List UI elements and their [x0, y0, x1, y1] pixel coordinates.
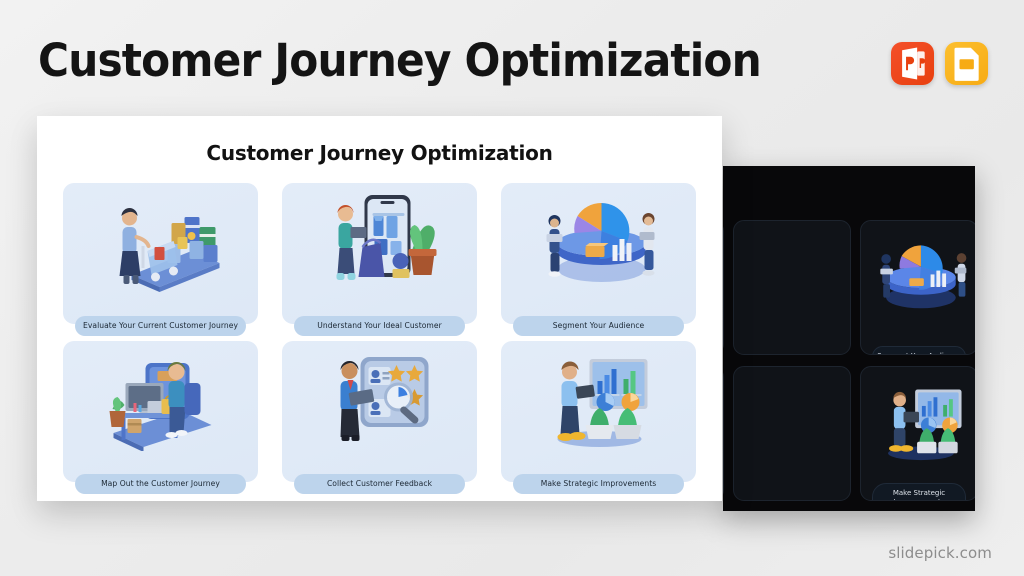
- powerpoint-icon[interactable]: [891, 42, 934, 85]
- light-card-map-journey[interactable]: Map Out the Customer Journey: [63, 341, 258, 482]
- light-card-label: Map Out the Customer Journey: [75, 474, 246, 494]
- card-illustration: [734, 225, 850, 320]
- woman-with-charts-and-plants-icon: [861, 371, 975, 466]
- google-slides-icon[interactable]: [945, 42, 988, 85]
- light-card-label: Collect Customer Feedback: [294, 474, 465, 494]
- page-title: Customer Journey Optimization: [38, 34, 761, 87]
- dark-card[interactable]: Make Strategic Improvements: [860, 366, 975, 501]
- woman-with-tablet-phone-shopping-icon: [282, 189, 477, 293]
- format-icon-group: [891, 42, 988, 85]
- light-card-strategic-improvements[interactable]: Make Strategic Improvements: [501, 341, 696, 482]
- dark-card[interactable]: [733, 220, 851, 355]
- page-header: Customer Journey Optimization: [0, 0, 1024, 108]
- light-slide-title: Customer Journey Optimization: [37, 141, 722, 165]
- light-card-label: Segment Your Audience: [513, 316, 684, 336]
- dark-slide-card-grid: Segment Your Audience: [723, 220, 975, 501]
- light-card-label: Evaluate Your Current Customer Journey: [75, 316, 246, 336]
- card-illustration: [734, 371, 850, 466]
- man-with-laptop-reviews-stars-icon: [282, 347, 477, 451]
- woman-at-desk-with-computer-icon: [63, 347, 258, 451]
- dark-card-label: Make Strategic Improvements: [872, 483, 966, 501]
- watermark: slidepick.com: [888, 544, 992, 562]
- light-card-collect-feedback[interactable]: Collect Customer Feedback: [282, 341, 477, 482]
- light-card-label: Make Strategic Improvements: [513, 474, 684, 494]
- dark-card[interactable]: [723, 220, 724, 355]
- pie-chart-with-two-analysts-icon: [501, 189, 696, 293]
- light-card-segment-audience[interactable]: Segment Your Audience: [501, 183, 696, 324]
- dark-card-label: Segment Your Audience: [872, 346, 966, 355]
- woman-with-charts-and-plants-icon: [501, 347, 696, 451]
- light-card-evaluate-journey[interactable]: Evaluate Your Current Customer Journey: [63, 183, 258, 324]
- dark-slide-preview[interactable]: mization: [723, 166, 975, 511]
- light-card-label: Understand Your Ideal Customer: [294, 316, 465, 336]
- light-slide-card-grid: Evaluate Your Current Customer Journey: [63, 183, 696, 482]
- light-card-understand-customer[interactable]: Understand Your Ideal Customer: [282, 183, 477, 324]
- dark-card[interactable]: [723, 366, 724, 501]
- dark-card[interactable]: Segment Your Audience: [860, 220, 975, 355]
- shopper-with-cart-and-gifts-icon: [63, 189, 258, 293]
- dark-card[interactable]: [733, 366, 851, 501]
- light-slide-preview[interactable]: Customer Journey Optimization: [37, 116, 722, 501]
- pie-chart-with-two-analysts-icon: [861, 225, 975, 320]
